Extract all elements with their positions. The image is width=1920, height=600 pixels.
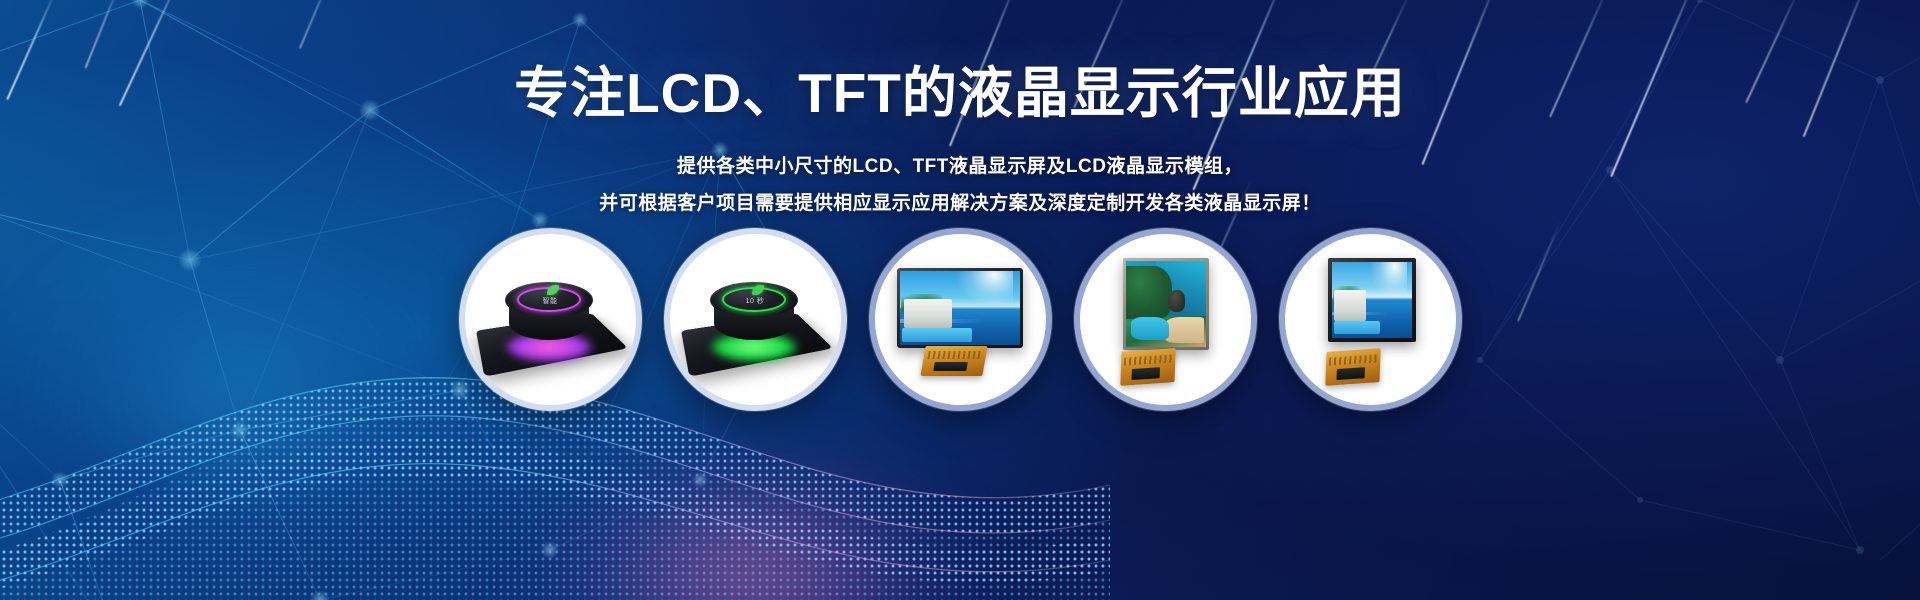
lcd-bezel: [1123, 258, 1209, 350]
sun-glare: [950, 271, 1012, 312]
resort-villa: [1334, 290, 1366, 320]
speaker-display-label: 10 秒: [726, 296, 784, 306]
lcd-module-portrait-black-art: [1318, 258, 1422, 382]
lcd-screen-beach-scene: [1332, 262, 1412, 338]
lagoon-pool: [1131, 317, 1169, 339]
smart-speaker-purple-art: 智能: [475, 256, 625, 384]
hero-banner: 专注LCD、TFT的液晶显示行业应用 提供各类中小尺寸的LCD、TFT液晶显示屏…: [0, 0, 1920, 600]
magenta-glow-decoration: [540, 460, 960, 600]
green-cliff: [1126, 266, 1172, 319]
lcd-screen-beach-scene: [900, 271, 1020, 345]
driver-ic-chip: [934, 361, 968, 371]
lcd-bezel: [1328, 258, 1416, 342]
swimming-pool: [902, 328, 972, 341]
product-circle-row: 智能 10 秒: [0, 228, 1920, 411]
subtitle-line-2: 并可根据客户项目需要提供相应显示应用解决方案及深度定制开发各类液晶显示屏！: [0, 185, 1920, 222]
banner-copy: 专注LCD、TFT的液晶显示行业应用 提供各类中小尺寸的LCD、TFT液晶显示屏…: [0, 62, 1920, 222]
resort-villa: [904, 299, 952, 329]
fpc-ribbon-cable: [1120, 348, 1175, 386]
fpc-ribbon-cable: [920, 346, 987, 376]
smart-speaker-green-art: 10 秒: [680, 256, 830, 384]
page-title: 专注LCD、TFT的液晶显示行业应用: [0, 62, 1920, 126]
product-circle-lcd-portrait-silver[interactable]: [1074, 228, 1257, 411]
banner-subtitle: 提供各类中小尺寸的LCD、TFT液晶显示屏及LCD液晶显示模组， 并可根据客户项…: [0, 148, 1920, 222]
fpc-ribbon-cable: [1325, 348, 1380, 386]
sun-glare: [1366, 262, 1408, 305]
lcd-screen-coastline-scene: [1126, 261, 1206, 347]
sand-beach: [1163, 317, 1205, 343]
product-circle-smart-speaker-green[interactable]: 10 秒: [664, 228, 847, 411]
product-circle-lcd-landscape[interactable]: [869, 228, 1052, 411]
lcd-module-landscape-art: [897, 264, 1023, 376]
driver-ic-chip: [1131, 366, 1160, 379]
product-circle-smart-speaker-purple[interactable]: 智能: [459, 228, 642, 411]
lcd-module-portrait-art: [1113, 258, 1217, 382]
lcd-bezel: [897, 268, 1023, 348]
subtitle-line-1: 提供各类中小尺寸的LCD、TFT液晶显示屏及LCD液晶显示模组，: [0, 148, 1920, 185]
rock-formation: [1168, 290, 1186, 312]
swimming-pool: [1334, 321, 1380, 335]
speaker-display-label: 智能: [521, 296, 579, 306]
product-circle-lcd-portrait-black[interactable]: [1279, 228, 1462, 411]
driver-ic-chip: [1336, 366, 1365, 379]
